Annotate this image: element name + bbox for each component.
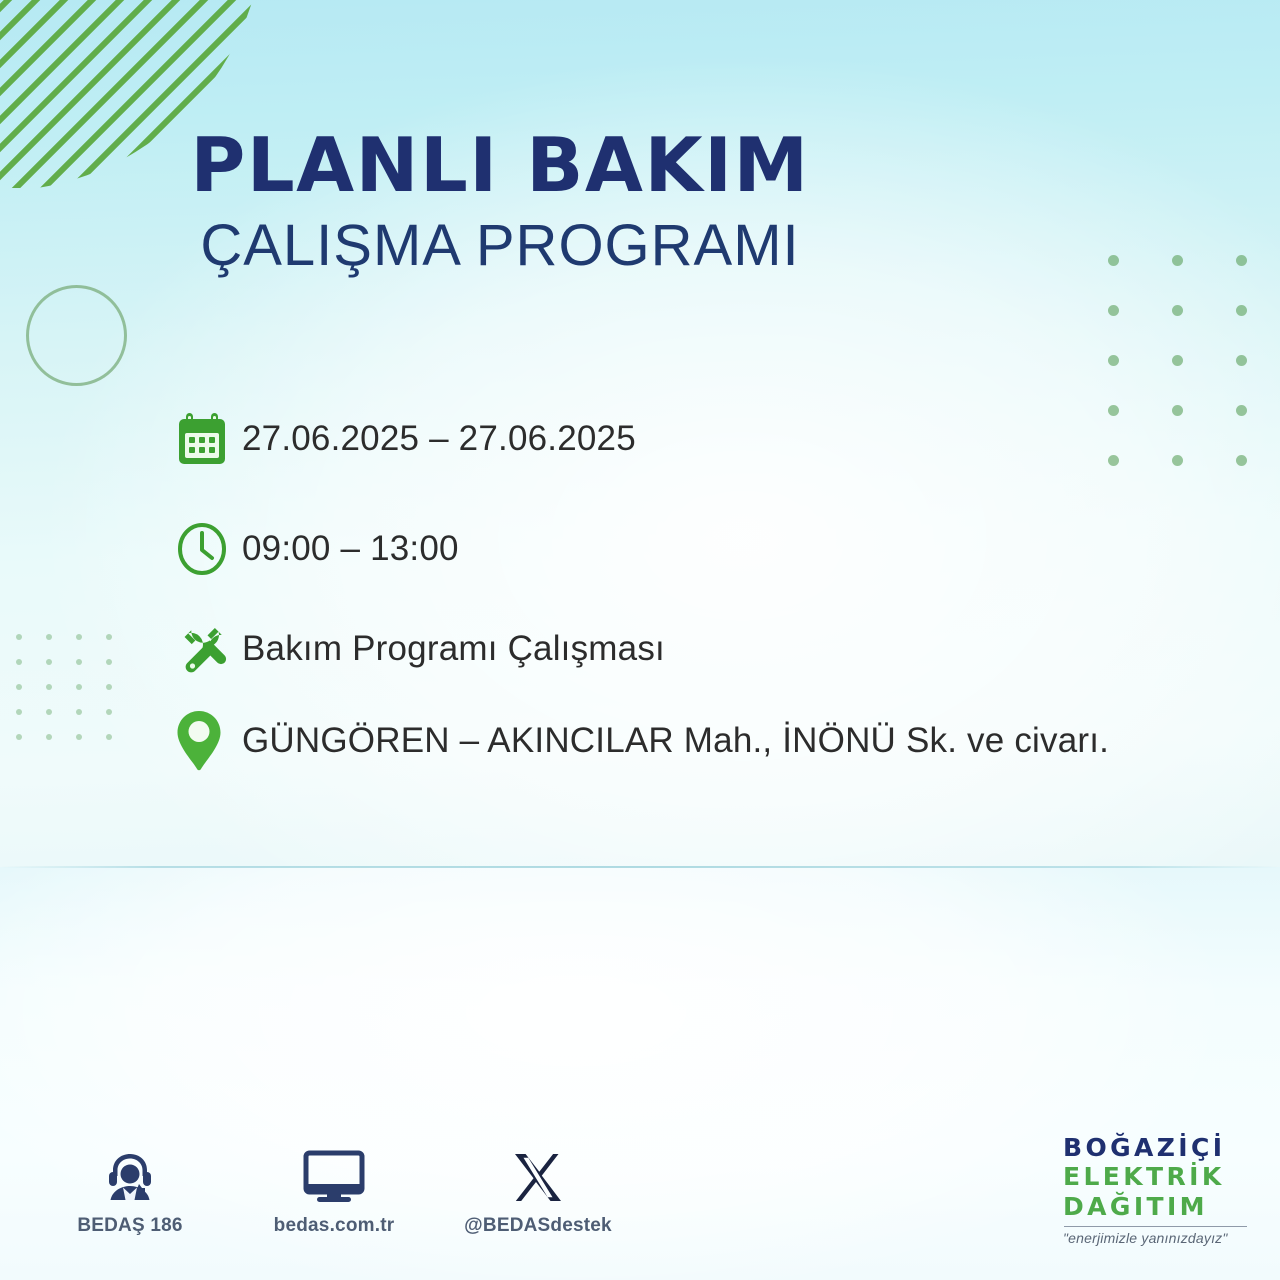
brand-logo-divider xyxy=(1064,1226,1247,1227)
info-row-time-label: 09:00 – 13:00 xyxy=(242,529,459,569)
brand-logo: BOĞAZİÇİ ELEKTRİK DAĞITIM "enerjimizle y… xyxy=(1063,1133,1263,1246)
monitor-icon xyxy=(260,1140,408,1206)
page-subtitle: ÇALIŞMA PROGRAMI xyxy=(0,217,1000,275)
info-row-location-label: GÜNGÖREN – AKINCILAR Mah., İNÖNÜ Sk. ve … xyxy=(242,721,1109,761)
info-row-time: 09:00 – 13:00 xyxy=(176,508,1246,590)
x-social-icon xyxy=(464,1140,612,1206)
info-row-work-type-label: Bakım Programı Çalışması xyxy=(242,629,665,669)
contact-item-phone[interactable]: BEDAŞ 186 xyxy=(56,1140,204,1237)
footer-contacts: BEDAŞ 186 bedas.com.tr @BEDASdestek xyxy=(56,1140,612,1237)
planli-bakim-poster: PLANLI BAKIM ÇALIŞMA PROGRAMI xyxy=(0,0,1280,1280)
info-row-date: 27.06.2025 – 27.06.2025 xyxy=(176,398,1246,480)
brand-logo-line-1: BOĞAZİÇİ xyxy=(1063,1133,1263,1162)
info-row-date-label: 27.06.2025 – 27.06.2025 xyxy=(242,419,636,459)
clock-icon xyxy=(176,513,242,585)
contact-item-x-social-label: @BEDASdestek xyxy=(464,1215,612,1237)
contact-item-x-social[interactable]: @BEDASdestek xyxy=(464,1140,612,1237)
support-agent-icon xyxy=(56,1140,204,1206)
poster-header: PLANLI BAKIM ÇALIŞMA PROGRAMI xyxy=(0,128,1000,275)
contact-item-website-label: bedas.com.tr xyxy=(260,1215,408,1237)
page-title: PLANLI BAKIM xyxy=(0,128,1000,203)
location-pin-icon xyxy=(176,705,242,777)
brand-logo-line-2: ELEKTRİK xyxy=(1063,1162,1263,1191)
dot-grid-left-decoration xyxy=(16,634,136,759)
contact-item-phone-label: BEDAŞ 186 xyxy=(56,1215,204,1237)
calendar-icon xyxy=(176,403,242,475)
band-divider xyxy=(0,866,1280,868)
circle-outline-decoration xyxy=(26,285,127,386)
maintenance-info-list: 27.06.2025 – 27.06.2025 09:00 – 13:00 xyxy=(176,398,1246,782)
info-row-location: GÜNGÖREN – AKINCILAR Mah., İNÖNÜ Sk. ve … xyxy=(176,700,1246,782)
contact-item-website[interactable]: bedas.com.tr xyxy=(260,1140,408,1237)
tools-icon xyxy=(176,613,242,685)
brand-logo-line-3: DAĞITIM xyxy=(1063,1192,1263,1221)
info-row-work-type: Bakım Programı Çalışması xyxy=(176,608,1246,690)
brand-logo-tagline: "enerjimizle yanınızdayız" xyxy=(1063,1230,1263,1246)
